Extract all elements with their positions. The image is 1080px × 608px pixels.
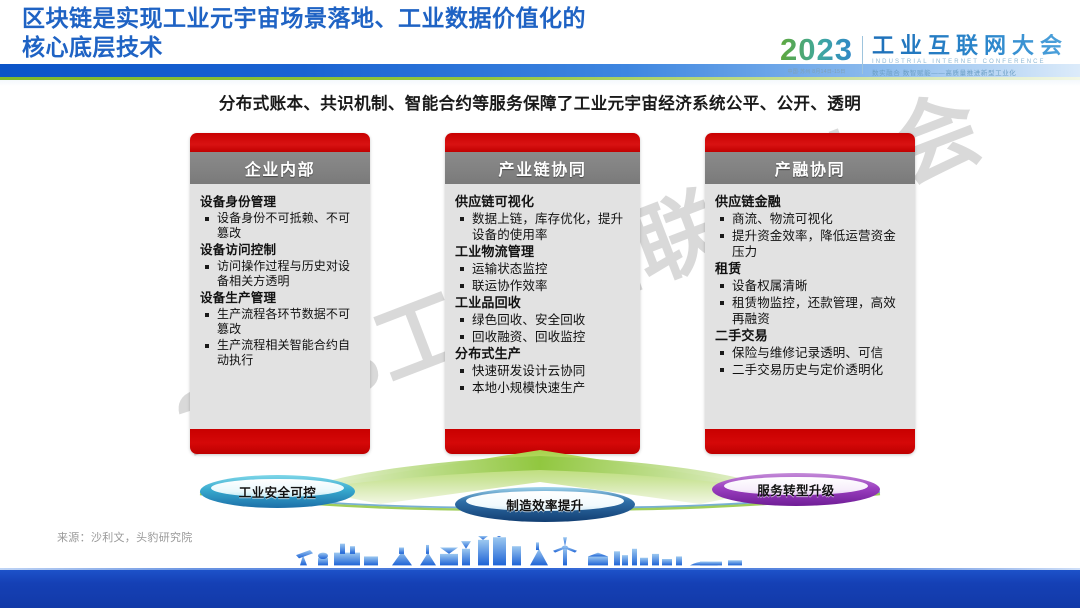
bullet-text: 租赁物监控，还款管理，高效再融资 [732,295,907,327]
logo-tagline: 数实融合 数智赋能——高质量推进新型工业化 [872,67,1068,77]
logo-name-cn: 工业互联网大会 [872,34,1068,58]
bullet-text: 访问操作过程与历史对设备相关方透明 [217,259,362,289]
bullet-text: 设备身份不可抵赖、不可篡改 [217,211,362,241]
list-item: 快速研发设计云协同 [455,363,632,379]
footer-skyline [0,536,1080,608]
bullet-text: 快速研发设计云协同 [472,363,585,379]
bullet-square-icon [720,351,724,355]
outcome-pill-service-upgrade: 服务转型升级 [712,473,880,506]
list-item: 访问操作过程与历史对设备相关方透明 [200,259,362,289]
bullet-square-icon [460,335,464,339]
group-title: 工业品回收 [455,295,632,311]
page-title-line-2: 核心底层技术 [22,33,682,62]
list-item: 联运协作效率 [455,278,632,294]
logo-year: 2023 [780,34,853,66]
outcome-pill-industrial-safety: 工业安全可控 [200,475,355,508]
header-fade [0,80,1080,86]
outcome-pill-manufacturing-efficiency: 制造效率提升 [455,487,635,522]
bullet-text: 二手交易历史与定价透明化 [732,362,883,378]
bullet-square-icon [720,217,724,221]
bullet-square-icon [720,368,724,372]
bullet-text: 保险与维修记录透明、可信 [732,345,883,361]
bullet-square-icon [460,217,464,221]
bullet-text: 提升资金效率，降低运营资金压力 [732,228,907,260]
card-industry-chain-collaboration: 产业链协同 供应链可视化 数据上链，库存优化，提升设备的使用率 工业物流管理 运… [445,133,640,454]
bullet-square-icon [460,386,464,390]
page-title-line-1: 区块链是实现工业元宇宙场景落地、工业数据价值化的 [22,4,682,33]
list-item: 二手交易历史与定价透明化 [715,362,907,378]
list-item: 运输状态监控 [455,261,632,277]
slide: 区块链是实现工业元宇宙场景落地、工业数据价值化的 核心底层技术 2023 中国·… [0,0,1080,608]
bullet-text: 生产流程各环节数据不可篡改 [217,307,362,337]
list-item: 商流、物流可视化 [715,211,907,227]
card-header: 产业链协同 [445,152,640,184]
group-title: 分布式生产 [455,346,632,362]
bullet-square-icon [720,284,724,288]
list-item: 生产流程各环节数据不可篡改 [200,307,362,337]
group-title: 二手交易 [715,328,907,344]
bullet-text: 生产流程相关智能合约自动执行 [217,338,362,368]
card-title: 产融协同 [775,156,845,180]
bullet-square-icon [460,284,464,288]
card-top-bar [190,133,370,152]
bullet-square-icon [460,369,464,373]
group-title: 供应链可视化 [455,194,632,210]
logo-name-block: 工业互联网大会 INDUSTRIAL INTERNET CONFERENCE 数… [863,34,1068,77]
bullet-text: 回收融资、回收监控 [472,329,585,345]
logo-year-block: 2023 中国·苏州 8月14日-15日 [780,34,862,75]
card-top-bar [705,133,915,152]
list-item: 设备权属清晰 [715,278,907,294]
card-body: 供应链可视化 数据上链，库存优化，提升设备的使用率 工业物流管理 运输状态监控 … [445,184,640,429]
card-body: 设备身份管理 设备身份不可抵赖、不可篡改 设备访问控制 访问操作过程与历史对设备… [190,184,370,429]
logo-date: 中国·苏州 8月14日-15日 [787,68,845,75]
group-title: 设备身份管理 [200,194,362,210]
bullet-text: 本地小规模快速生产 [472,380,585,396]
bullet-square-icon [205,313,209,317]
bullet-text: 联运协作效率 [472,278,548,294]
card-header: 产融协同 [705,152,915,184]
sea-band [0,570,1080,608]
list-item: 租赁物监控，还款管理，高效再融资 [715,295,907,327]
slide-subtitle: 分布式账本、共识机制、智能合约等服务保障了工业元宇宙经济系统公平、公开、透明 [0,90,1080,114]
outcome-label: 工业安全可控 [239,482,316,501]
bullet-text: 运输状态监控 [472,261,548,277]
bullet-square-icon [205,265,209,269]
list-item: 保险与维修记录透明、可信 [715,345,907,361]
list-item: 数据上链，库存优化，提升设备的使用率 [455,211,632,243]
outcome-label: 制造效率提升 [506,495,583,514]
card-top-bar [445,133,640,152]
card-body: 供应链金融 商流、物流可视化 提升资金效率，降低运营资金压力 租赁 设备权属清晰… [705,184,915,429]
card-industry-finance-collaboration: 产融协同 供应链金融 商流、物流可视化 提升资金效率，降低运营资金压力 租赁 设… [705,133,915,454]
bullet-square-icon [460,267,464,271]
list-item: 绿色回收、安全回收 [455,312,632,328]
bullet-square-icon [720,301,724,305]
bullet-text: 商流、物流可视化 [732,211,833,227]
bullet-text: 数据上链，库存优化，提升设备的使用率 [472,211,632,243]
bullet-text: 绿色回收、安全回收 [472,312,585,328]
list-item: 回收融资、回收监控 [455,329,632,345]
bullet-square-icon [720,234,724,238]
list-item: 提升资金效率，降低运营资金压力 [715,228,907,260]
group-title: 租赁 [715,261,907,277]
bullet-square-icon [205,217,209,221]
card-header: 企业内部 [190,152,370,184]
bullet-square-icon [205,344,209,348]
group-title: 供应链金融 [715,194,907,210]
group-title: 设备访问控制 [200,242,362,258]
group-title: 工业物流管理 [455,244,632,260]
bullet-text: 设备权属清晰 [732,278,808,294]
logo-name-en: INDUSTRIAL INTERNET CONFERENCE [872,59,1068,65]
conference-logo: 2023 中国·苏州 8月14日-15日 工业互联网大会 INDUSTRIAL … [780,34,1068,77]
group-title: 设备生产管理 [200,290,362,306]
outcome-label: 服务转型升级 [757,480,834,499]
page-title: 区块链是实现工业元宇宙场景落地、工业数据价值化的 核心底层技术 [22,4,682,62]
list-item: 本地小规模快速生产 [455,380,632,396]
list-item: 设备身份不可抵赖、不可篡改 [200,211,362,241]
card-enterprise-internal: 企业内部 设备身份管理 设备身份不可抵赖、不可篡改 设备访问控制 访问操作过程与… [190,133,370,454]
card-title: 企业内部 [245,156,315,180]
bullet-square-icon [460,318,464,322]
card-title: 产业链协同 [498,156,586,180]
list-item: 生产流程相关智能合约自动执行 [200,338,362,368]
